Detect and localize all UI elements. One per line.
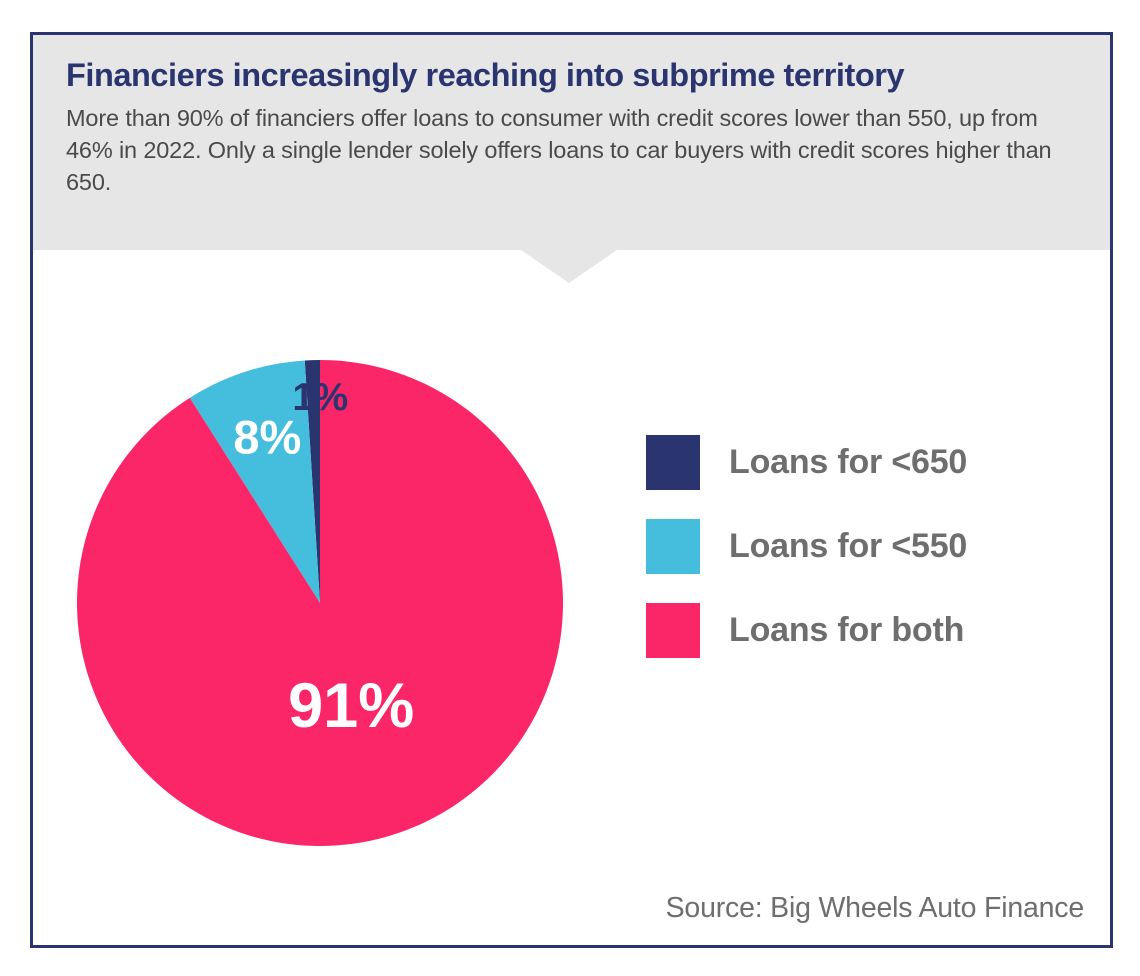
pie-chart: 91% 8% 1% (65, 348, 575, 858)
source-attribution: Source: Big Wheels Auto Finance (666, 892, 1084, 925)
header-text-block: Financiers increasingly reaching into su… (33, 35, 1110, 199)
legend-item-loans-for-both[interactable]: Loans for both (646, 603, 967, 658)
chart-plot-area: 91% 8% 1% Loans for <650 Loans for <550 … (33, 250, 1110, 945)
legend-label-loans-for-both: Loans for both (729, 611, 964, 650)
legend-swatch-icon-cyan (646, 519, 700, 574)
chart-subtitle: More than 90% of financiers offer loans … (66, 103, 1066, 198)
legend-swatch-icon-navy (646, 435, 700, 490)
legend-label-loans-for-550: Loans for <550 (729, 527, 967, 566)
pie-chart-svg: 91% 8% (65, 348, 575, 858)
legend-item-loans-for-650[interactable]: Loans for <650 (646, 435, 967, 490)
pie-slices (77, 360, 563, 846)
pie-slice-label-loans-for-both: 91% (288, 671, 414, 741)
legend-swatch-icon-pink (646, 603, 700, 658)
page-title: Financiers increasingly reaching into su… (66, 56, 1076, 94)
legend-label-loans-for-650: Loans for <650 (729, 443, 967, 482)
chart-legend: Loans for <650 Loans for <550 Loans for … (646, 435, 967, 658)
legend-item-loans-for-550[interactable]: Loans for <550 (646, 519, 967, 574)
infographic-card: Financiers increasingly reaching into su… (30, 32, 1113, 948)
pie-slice-label-loans-for-650: 1% (65, 376, 575, 420)
